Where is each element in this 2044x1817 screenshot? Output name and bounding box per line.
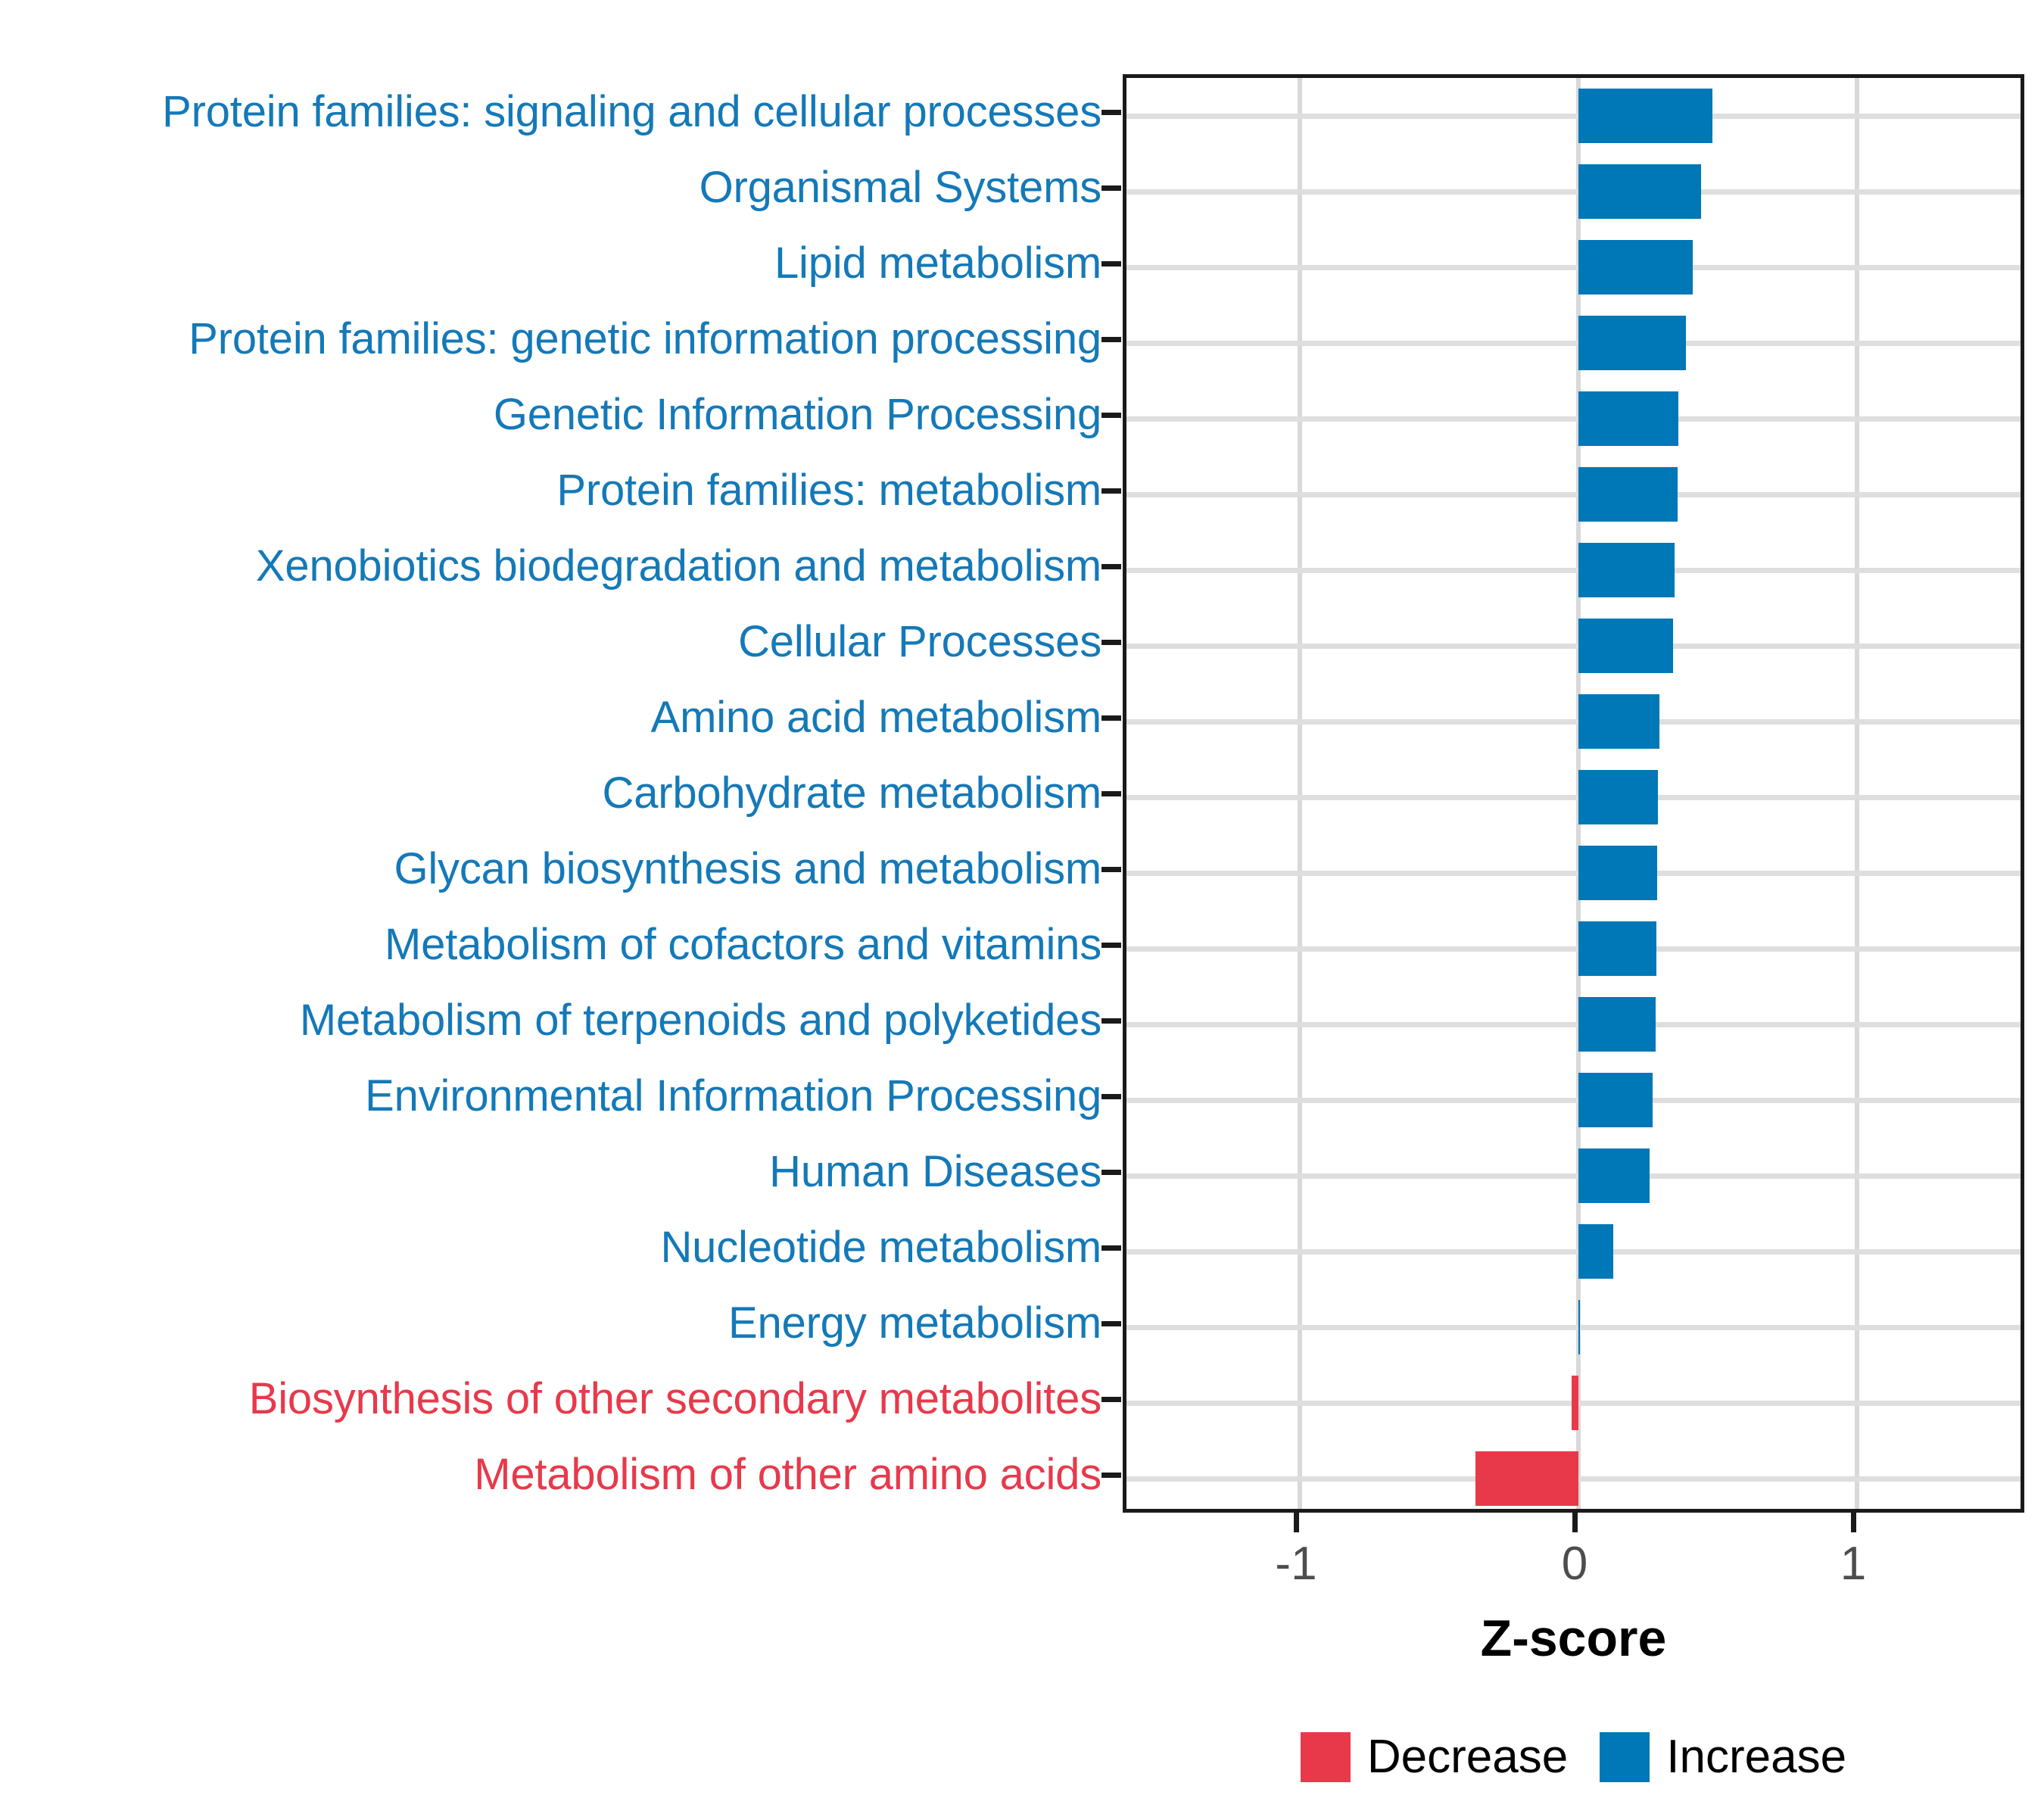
y-axis-label: Lipid metabolism (0, 242, 1101, 285)
bar[interactable] (1578, 694, 1659, 749)
horizontal-gridline (1126, 644, 2021, 649)
y-axis-tick (1101, 1245, 1121, 1251)
horizontal-gridline (1126, 189, 2021, 195)
horizontal-gridline (1126, 719, 2021, 725)
bar[interactable] (1578, 391, 1678, 446)
horizontal-gridline (1126, 1249, 2021, 1254)
legend-entry[interactable]: Increase (1600, 1730, 1846, 1784)
horizontal-gridline (1126, 795, 2021, 800)
y-axis-label: Amino acid metabolism (0, 696, 1101, 740)
legend-entry[interactable]: Decrease (1301, 1730, 1568, 1784)
horizontal-gridline (1126, 1022, 2021, 1027)
bar[interactable] (1578, 164, 1701, 219)
horizontal-gridline (1126, 492, 2021, 497)
vertical-gridline (1855, 78, 1859, 1509)
y-axis-label: Metabolism of cofactors and vitamins (0, 923, 1101, 967)
bar[interactable] (1578, 770, 1658, 824)
y-axis-tick (1101, 261, 1121, 266)
y-axis-tick (1101, 1170, 1121, 1175)
legend-label: Decrease (1367, 1730, 1568, 1784)
y-axis-tick (1101, 867, 1121, 872)
y-axis-label: Energy metabolism (0, 1301, 1101, 1345)
y-axis-tick (1101, 1473, 1121, 1478)
horizontal-gridline (1126, 341, 2021, 346)
horizontal-gridline (1126, 114, 2021, 119)
y-axis-label: Nucleotide metabolism (0, 1226, 1101, 1270)
x-axis-tick-label: -1 (1275, 1537, 1316, 1591)
horizontal-gridline (1126, 1098, 2021, 1103)
x-axis-tick (1572, 1513, 1578, 1532)
bar[interactable] (1578, 1073, 1653, 1127)
y-axis-label: Carbohydrate metabolism (0, 771, 1101, 815)
plot-panel (1123, 74, 2024, 1513)
legend-label: Increase (1666, 1730, 1846, 1784)
bar[interactable] (1578, 997, 1656, 1052)
y-axis-label: Xenobiotics biodegradation and metabolis… (0, 544, 1101, 588)
bar[interactable] (1578, 467, 1678, 522)
z-score-bar-chart: Protein families: signaling and cellular… (0, 0, 2044, 1817)
y-axis-tick (1101, 791, 1121, 796)
y-axis-tick (1101, 488, 1121, 494)
y-axis-tick (1101, 110, 1121, 115)
bar[interactable] (1578, 1148, 1650, 1203)
y-axis-tick (1101, 564, 1121, 569)
legend-swatch-decrease (1301, 1732, 1351, 1782)
y-axis-tick (1101, 1321, 1121, 1326)
horizontal-gridline (1126, 416, 2021, 422)
horizontal-gridline (1126, 1325, 2021, 1330)
y-axis-label: Metabolism of terpenoids and polyketides (0, 999, 1101, 1043)
bar[interactable] (1578, 1224, 1613, 1279)
y-axis-label: Protein families: signaling and cellular… (0, 90, 1101, 134)
y-axis-label: Human Diseases (0, 1150, 1101, 1194)
bar[interactable] (1572, 1376, 1578, 1430)
horizontal-gridline (1126, 568, 2021, 573)
y-axis-tick (1101, 413, 1121, 418)
y-axis-tick (1101, 337, 1121, 342)
bar[interactable] (1578, 240, 1693, 295)
bar[interactable] (1578, 619, 1673, 673)
y-axis-tick (1101, 185, 1121, 191)
y-axis-tick (1101, 1397, 1121, 1402)
bar[interactable] (1475, 1451, 1578, 1506)
horizontal-gridline (1126, 946, 2021, 952)
y-axis-label: Genetic Information Processing (0, 393, 1101, 437)
y-axis-category-labels: Protein families: signaling and cellular… (0, 74, 1101, 1513)
y-axis-label: Cellular Processes (0, 620, 1101, 664)
y-axis-tick (1101, 1094, 1121, 1099)
y-axis-label: Biosynthesis of other secondary metaboli… (0, 1377, 1101, 1421)
y-axis-label: Protein families: metabolism (0, 469, 1101, 513)
horizontal-gridline (1126, 265, 2021, 270)
x-axis-tick (1294, 1513, 1299, 1532)
y-axis-label: Glycan biosynthesis and metabolism (0, 847, 1101, 891)
x-axis-tick (1851, 1513, 1856, 1532)
y-axis-tick (1101, 943, 1121, 948)
x-axis-tick-label: 0 (1562, 1537, 1588, 1591)
bar[interactable] (1578, 543, 1675, 597)
legend-swatch-increase (1600, 1732, 1650, 1782)
bar[interactable] (1578, 846, 1657, 900)
horizontal-gridline (1126, 871, 2021, 876)
x-axis-tick-label: 1 (1840, 1537, 1866, 1591)
bar[interactable] (1578, 89, 1712, 143)
bar[interactable] (1578, 1300, 1580, 1354)
chart-legend: DecreaseIncrease (1123, 1730, 2024, 1784)
bar[interactable] (1578, 316, 1686, 370)
horizontal-gridline (1126, 1173, 2021, 1179)
y-axis-label: Metabolism of other amino acids (0, 1453, 1101, 1497)
y-axis-tick (1101, 715, 1121, 721)
y-axis-label: Environmental Information Processing (0, 1074, 1101, 1118)
x-axis-title: Z-score (1123, 1609, 2024, 1668)
vertical-gridline (1298, 78, 1302, 1509)
bar[interactable] (1578, 921, 1656, 976)
y-axis-tick (1101, 1018, 1121, 1024)
y-axis-label: Protein families: genetic information pr… (0, 317, 1101, 361)
y-axis-tick (1101, 640, 1121, 645)
y-axis-label: Organismal Systems (0, 166, 1101, 210)
